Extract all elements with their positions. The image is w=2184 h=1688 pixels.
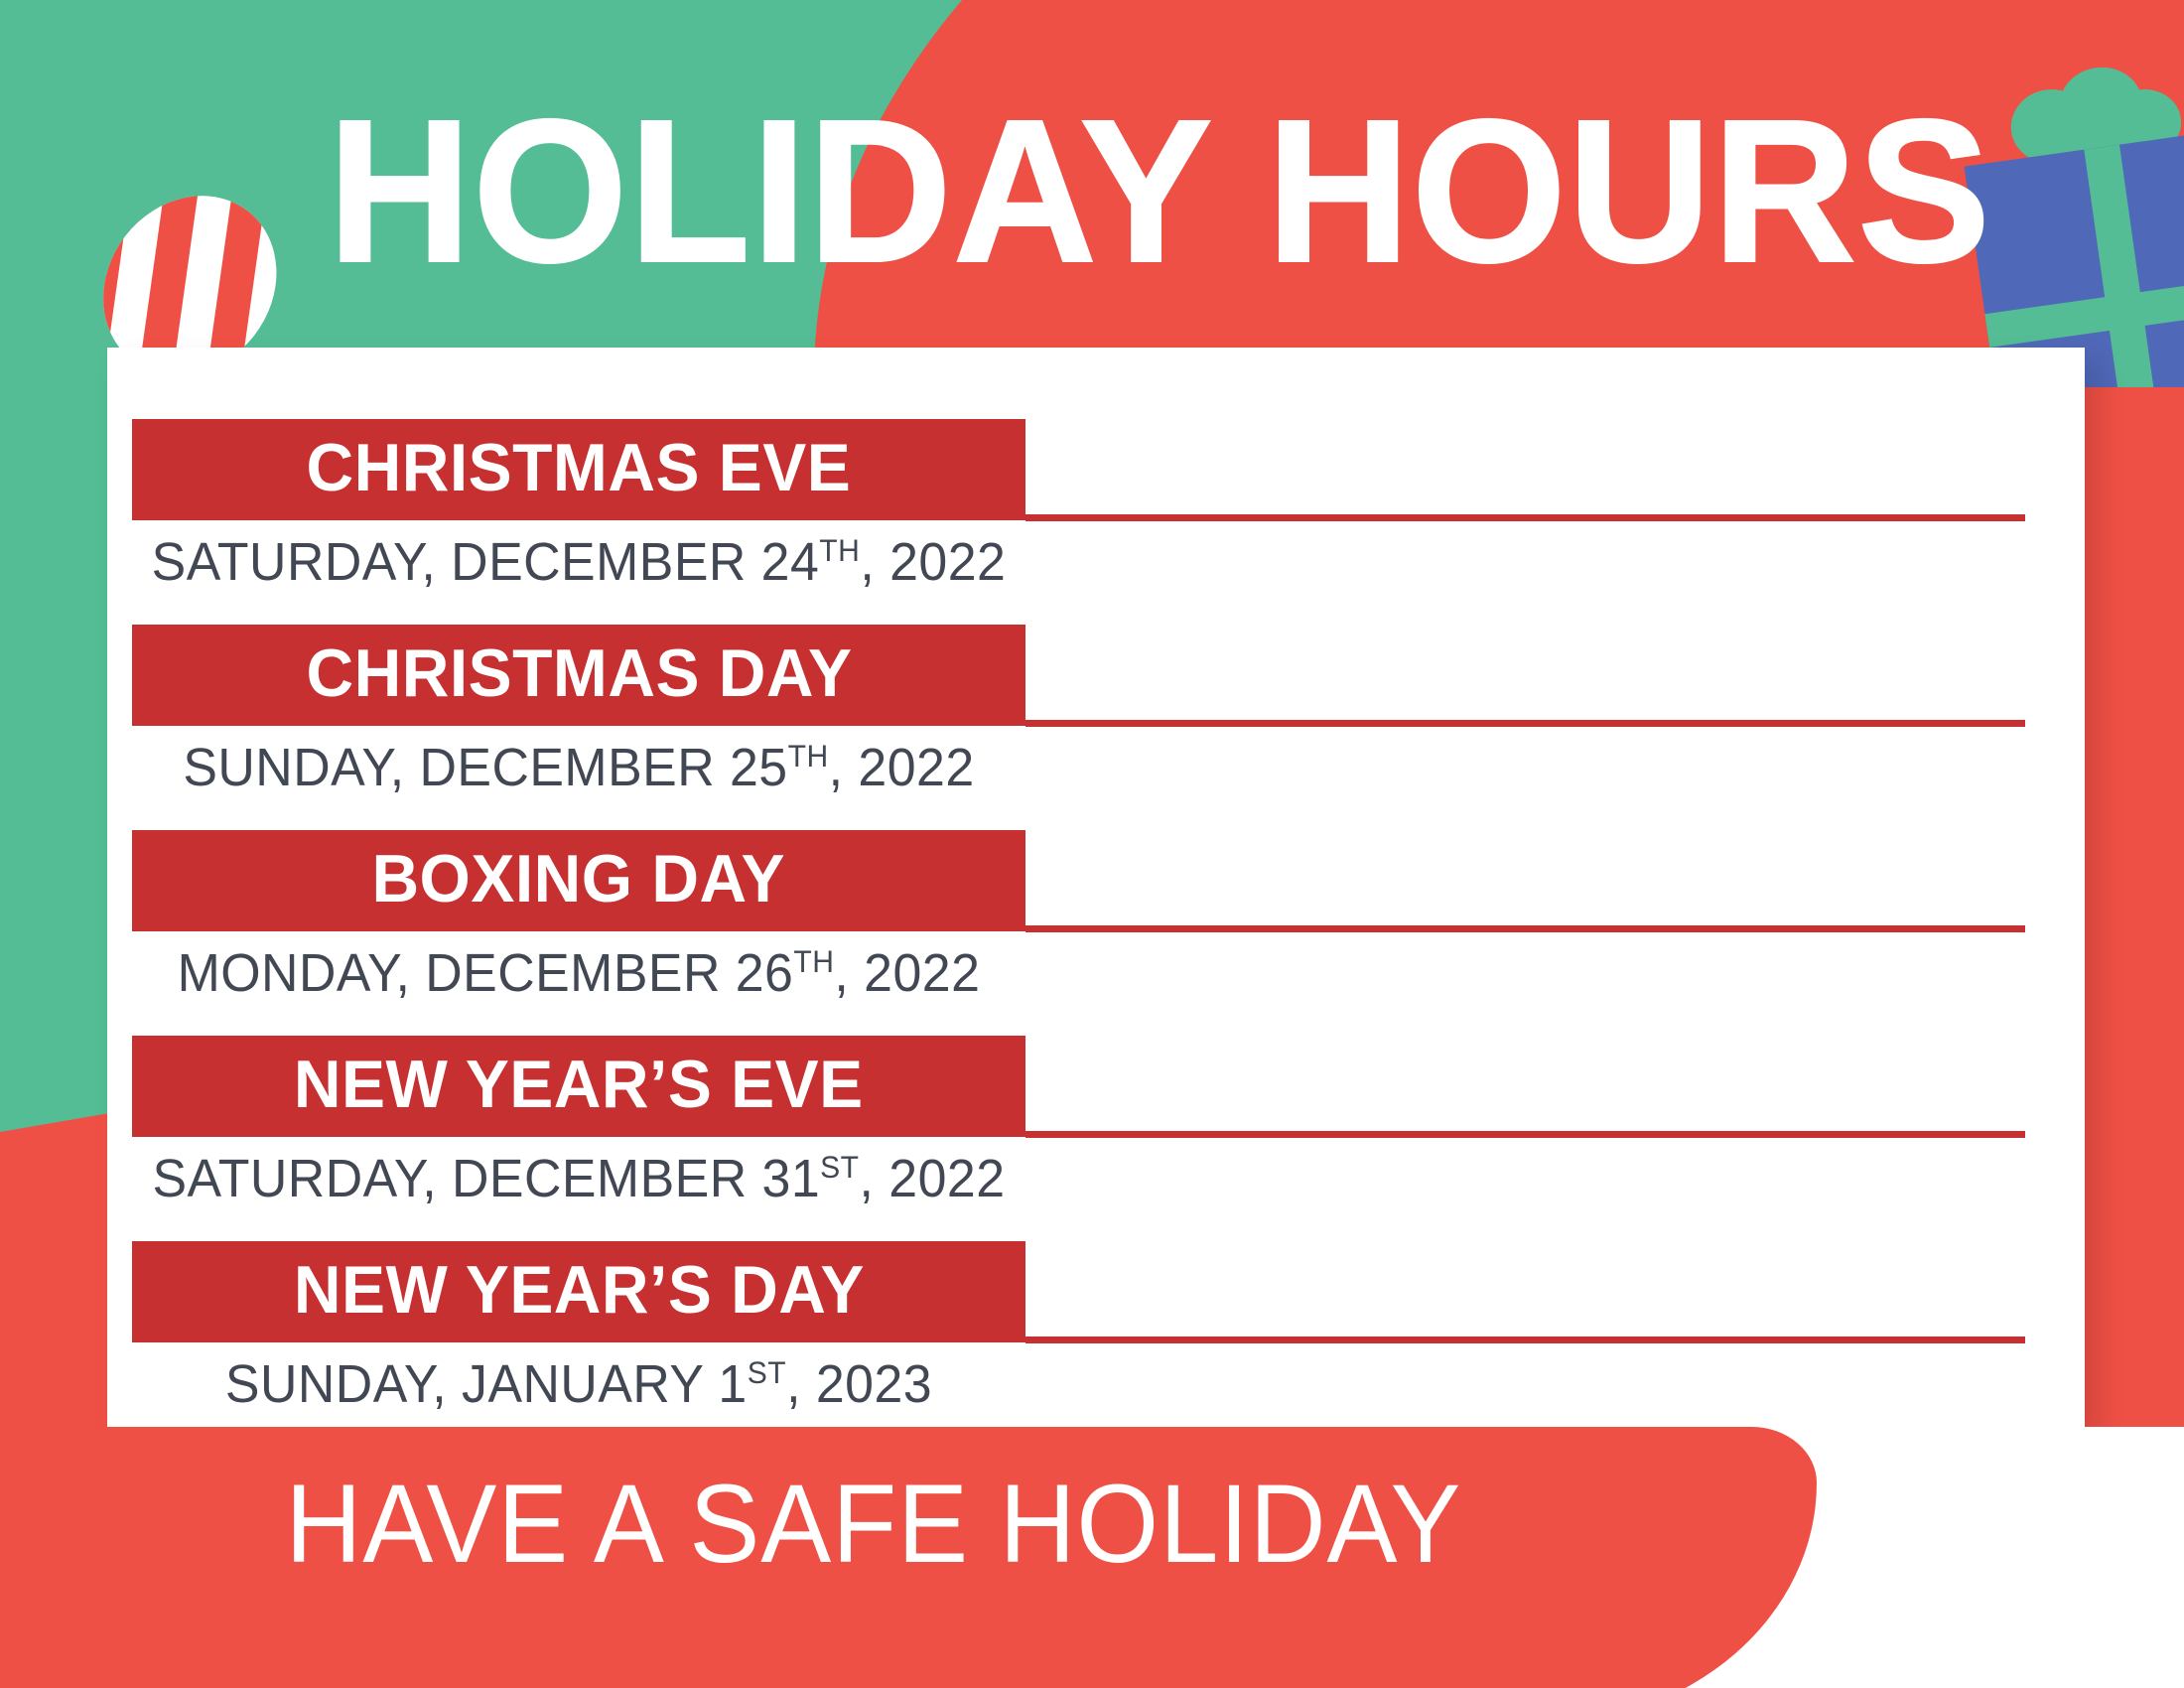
holiday-label-bar: NEW YEAR’S EVE — [132, 1036, 1025, 1137]
holiday-label-bar: CHRISTMAS EVE — [132, 419, 1025, 520]
holiday-date-suffix: , 2023 — [786, 1354, 932, 1414]
holiday-date-ordinal: TH — [793, 944, 834, 979]
hours-write-in-line[interactable] — [1025, 1336, 2025, 1343]
holiday-date-suffix: , 2022 — [834, 943, 980, 1003]
hours-write-in-line[interactable] — [1025, 925, 2025, 932]
holiday-name: NEW YEAR’S EVE — [294, 1051, 864, 1118]
holiday-date: MONDAY, DECEMBER 26TH, 2022 — [150, 933, 1008, 1013]
holiday-date-prefix: SUNDAY, JANUARY 1 — [225, 1354, 748, 1414]
holiday-date: SATURDAY, DECEMBER 24TH, 2022 — [150, 522, 1008, 602]
holiday-name: CHRISTMAS DAY — [306, 639, 852, 707]
hours-row-list: CHRISTMAS EVE SATURDAY, DECEMBER 24TH, 2… — [132, 419, 2058, 1447]
holiday-name: NEW YEAR’S DAY — [294, 1256, 865, 1324]
hours-write-in-line[interactable] — [1025, 514, 2025, 521]
holiday-name: CHRISTMAS EVE — [307, 434, 852, 501]
page-title: HOLIDAY HOURS — [328, 87, 1884, 296]
table-row: NEW YEAR’S DAY SUNDAY, JANUARY 1ST, 2023 — [132, 1241, 2058, 1447]
holiday-name: BOXING DAY — [372, 845, 786, 913]
table-row: CHRISTMAS DAY SUNDAY, DECEMBER 25TH, 202… — [132, 625, 2058, 830]
holiday-date-prefix: SATURDAY, DECEMBER 31 — [152, 1149, 820, 1208]
holiday-date-prefix: SATURDAY, DECEMBER 24 — [152, 532, 820, 592]
holiday-label-bar: NEW YEAR’S DAY — [132, 1241, 1025, 1342]
holiday-date-prefix: MONDAY, DECEMBER 26 — [178, 943, 794, 1003]
hours-card: CHRISTMAS EVE SATURDAY, DECEMBER 24TH, 2… — [107, 348, 2085, 1428]
holiday-hours-poster: HOLIDAY HOURS CHRISTMAS EVE SATURDAY, DE… — [0, 0, 2184, 1688]
footer-message: HAVE A SAFE HOLIDAY — [44, 1460, 1704, 1589]
hours-write-in-line[interactable] — [1025, 1131, 2025, 1138]
holiday-date: SUNDAY, DECEMBER 25TH, 2022 — [150, 728, 1008, 807]
holiday-label-bar: CHRISTMAS DAY — [132, 625, 1025, 726]
holiday-date: SATURDAY, DECEMBER 31ST, 2022 — [150, 1139, 1008, 1218]
holiday-date-suffix: , 2022 — [860, 532, 1006, 592]
holiday-date-ordinal: TH — [819, 533, 860, 568]
holiday-label-bar: BOXING DAY — [132, 830, 1025, 931]
holiday-date-prefix: SUNDAY, DECEMBER 25 — [183, 738, 787, 797]
holiday-date-suffix: , 2022 — [829, 738, 975, 797]
holiday-date-ordinal: TH — [788, 739, 829, 774]
holiday-date-ordinal: ST — [820, 1150, 859, 1185]
holiday-date: SUNDAY, JANUARY 1ST, 2023 — [150, 1344, 1008, 1424]
holiday-date-suffix: , 2022 — [860, 1149, 1006, 1208]
hours-write-in-line[interactable] — [1025, 720, 2025, 727]
holiday-date-ordinal: ST — [748, 1355, 786, 1390]
table-row: NEW YEAR’S EVE SATURDAY, DECEMBER 31ST, … — [132, 1036, 2058, 1241]
table-row: CHRISTMAS EVE SATURDAY, DECEMBER 24TH, 2… — [132, 419, 2058, 625]
table-row: BOXING DAY MONDAY, DECEMBER 26TH, 2022 — [132, 830, 2058, 1036]
